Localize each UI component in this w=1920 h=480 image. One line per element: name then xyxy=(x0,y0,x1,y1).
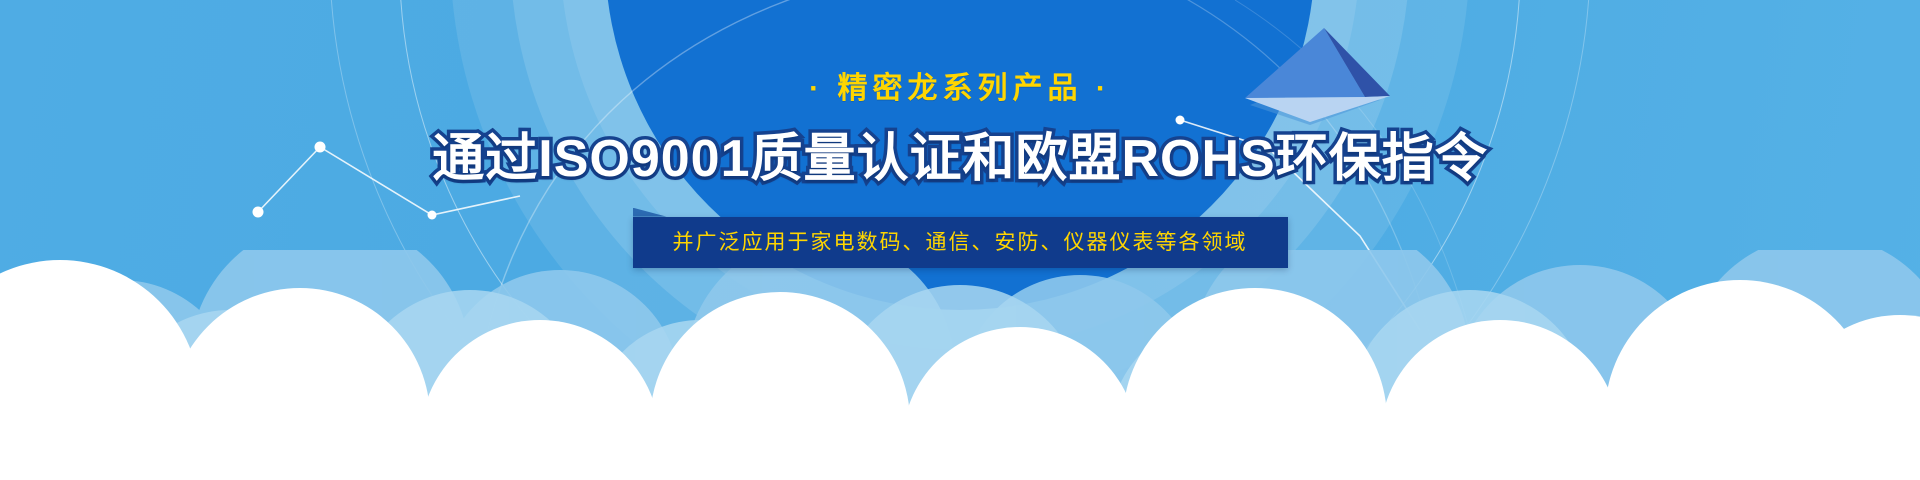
banner-subtitle: 并广泛应用于家电数码、通信、安防、仪器仪表等各领域 xyxy=(633,217,1288,268)
cloud-band xyxy=(0,250,1920,480)
banner-content: · 精密龙系列产品 · 通过ISO9001质量认证和欧盟ROHS环保指令 并广泛… xyxy=(0,0,1920,268)
banner-headline: 通过ISO9001质量认证和欧盟ROHS环保指令 xyxy=(0,132,1920,187)
promo-banner: · 精密龙系列产品 · 通过ISO9001质量认证和欧盟ROHS环保指令 并广泛… xyxy=(0,0,1920,480)
ribbon-fold-tail xyxy=(633,208,667,217)
subtitle-ribbon-wrapper: 并广泛应用于家电数码、通信、安防、仪器仪表等各领域 xyxy=(633,217,1288,268)
banner-eyebrow: · 精密龙系列产品 · xyxy=(0,74,1920,104)
